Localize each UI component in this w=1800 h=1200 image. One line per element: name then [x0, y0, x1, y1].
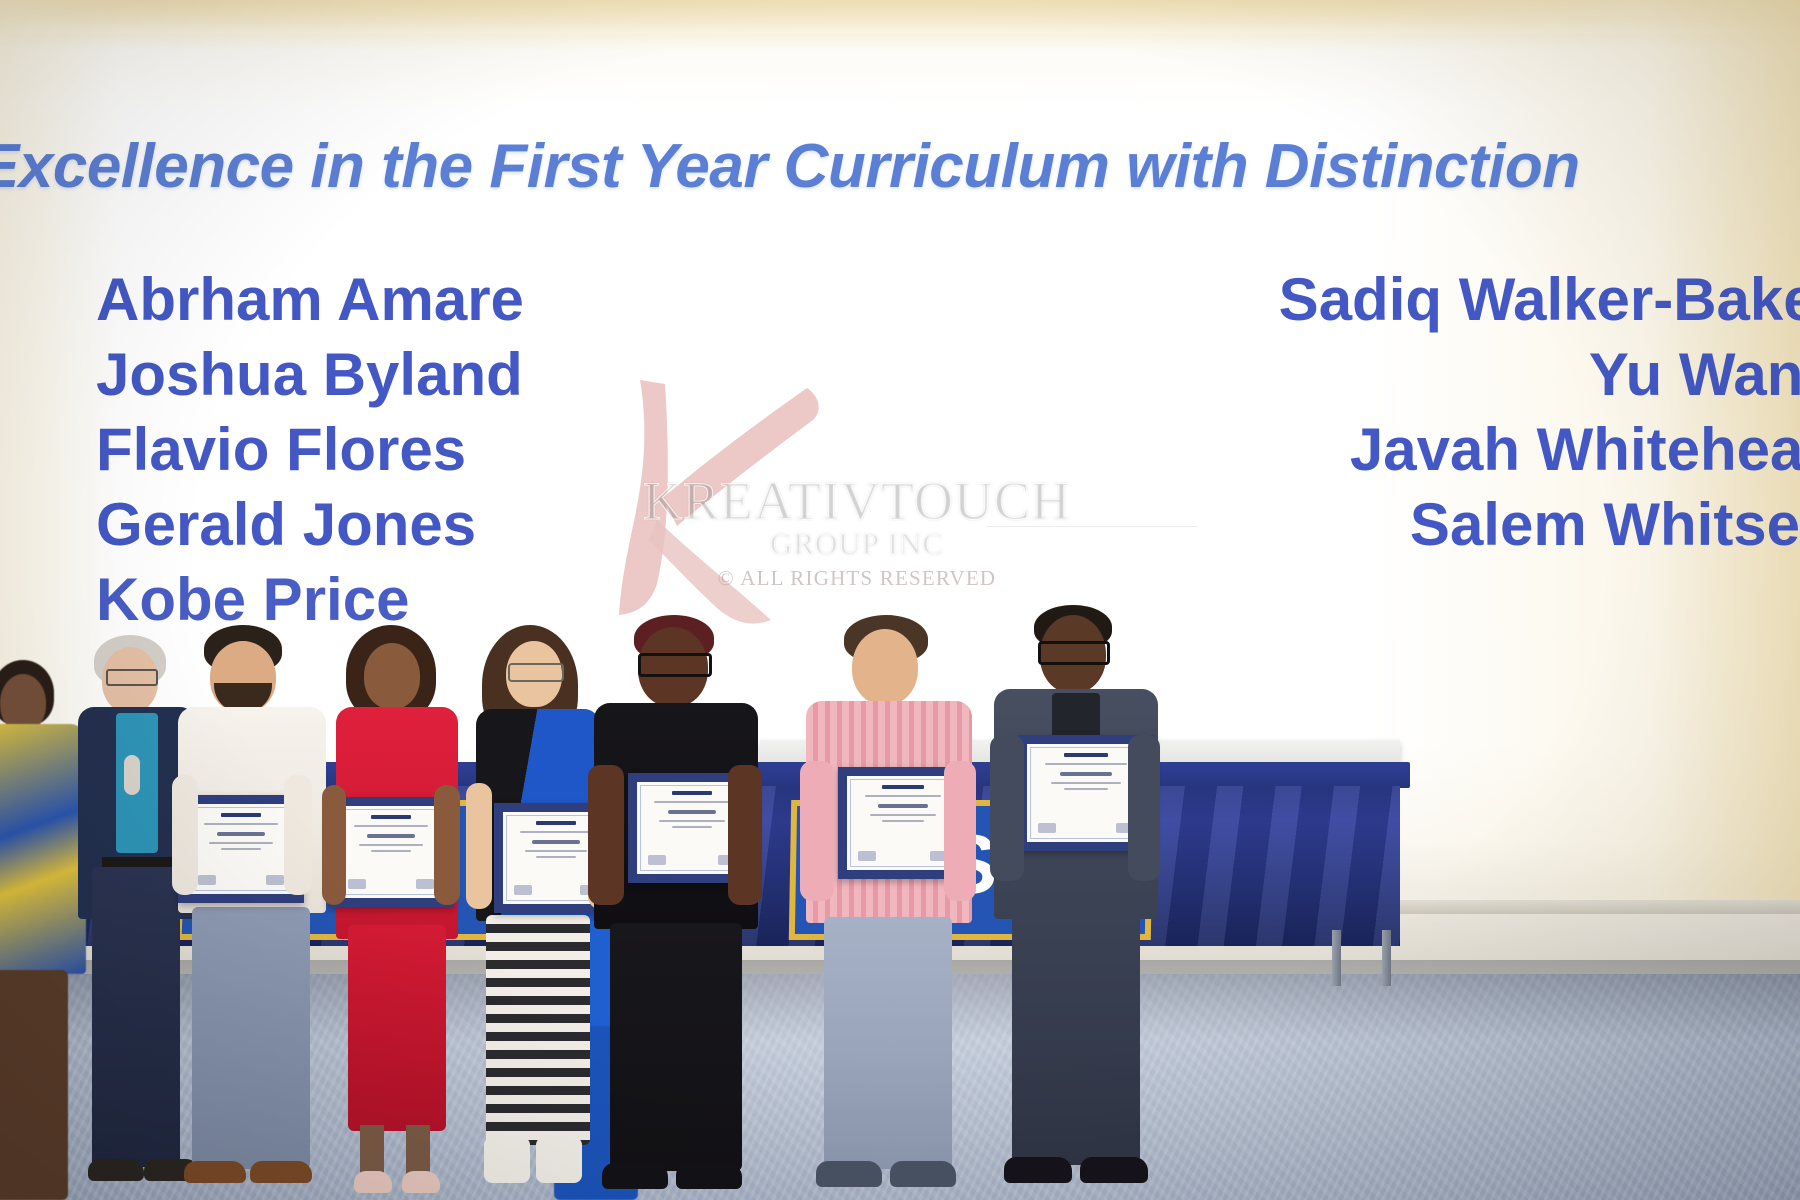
person-awardee-5 [800, 615, 978, 1200]
certificate-line [209, 842, 273, 844]
certificate-line [865, 795, 942, 797]
certificate-line [359, 844, 423, 846]
dress-shoe [1080, 1157, 1148, 1183]
certificate-seal [416, 879, 434, 889]
sneaker [676, 1163, 742, 1189]
certificate-recipient-script [668, 810, 717, 814]
certificate-line [882, 820, 924, 822]
certificate-logo [1064, 753, 1108, 757]
awardee-name: Abrham Amare [96, 262, 524, 337]
slide-left-name-column: Abrham Amare Joshua Byland Flavio Flores… [96, 262, 524, 637]
person-awardee-6 [990, 605, 1162, 1200]
pendant [124, 755, 140, 795]
heel [354, 1171, 392, 1193]
awardee-name: Sadiq Walker-Baker [1279, 262, 1800, 337]
arm [1128, 735, 1160, 881]
certificate-line [870, 814, 937, 816]
table-leg [1382, 930, 1391, 986]
certificate-line [654, 801, 729, 803]
certificate-logo [672, 791, 713, 795]
eyeglasses [638, 653, 712, 677]
head [852, 629, 918, 705]
certificate-seal [858, 851, 876, 861]
awardee-name: Salem Whitsett [1279, 487, 1800, 562]
eyeglasses [106, 669, 158, 686]
certificate-seal [348, 879, 366, 889]
arm [434, 785, 460, 905]
awardee-name: Flavio Flores [96, 412, 524, 487]
certificate-logo [882, 785, 924, 789]
person-awardee-4 [586, 615, 766, 1200]
awardee-name: Gerald Jones [96, 487, 524, 562]
certificate-line [659, 820, 724, 822]
certificate-seal [1038, 823, 1056, 833]
dress-shoe [1004, 1157, 1072, 1183]
slide-title: Excellence in the First Year Curriculum … [0, 131, 1800, 202]
certificate-line [1064, 788, 1108, 790]
certificate-line [1045, 763, 1126, 765]
shoe [184, 1161, 246, 1183]
arm [172, 775, 198, 895]
trousers [92, 867, 180, 1167]
certificate-line [520, 831, 593, 833]
arm [466, 783, 492, 909]
leg [406, 1125, 430, 1177]
slide-right-name-column: Sadiq Walker-Baker Yu Wang Javah Whitehe… [1279, 262, 1800, 562]
certificate-recipient-script [217, 832, 265, 836]
legs [0, 970, 68, 1200]
certificate-recipient-script [367, 834, 415, 838]
leg [360, 1125, 384, 1177]
striped-skirt [486, 915, 590, 1145]
arm [728, 765, 762, 905]
gray-trousers [192, 907, 310, 1169]
white-boot [536, 1137, 582, 1183]
shoe [250, 1161, 312, 1183]
photograph-canvas: Excellence in the First Year Curriculum … [0, 0, 1800, 1200]
sneaker [816, 1161, 882, 1187]
certificate-line [536, 856, 575, 858]
certificate-line [221, 848, 261, 850]
certificate-line [672, 826, 713, 828]
black-trousers [610, 923, 742, 1171]
certificate-line [525, 850, 588, 852]
person-awardee-2 [322, 625, 472, 1200]
certificate-face [850, 779, 956, 867]
sneaker [890, 1161, 956, 1187]
awardee-name: Yu Wang [1279, 337, 1800, 412]
certificate-logo [371, 815, 411, 819]
certificate-line [204, 823, 278, 825]
person-awardee-1 [172, 625, 332, 1200]
sneaker [602, 1163, 668, 1189]
arm [944, 761, 976, 901]
white-boot [484, 1137, 530, 1183]
suit-trousers [1012, 913, 1140, 1165]
eyeglasses [508, 663, 564, 682]
certificate-recipient-script [532, 840, 579, 844]
certificate-recipient-script [878, 804, 928, 808]
certificate-recipient-script [1060, 772, 1113, 776]
certificate-line [354, 825, 428, 827]
awardee-name: Joshua Byland [96, 337, 524, 412]
certificate-face [190, 807, 292, 891]
arm [800, 761, 834, 901]
certificate-logo [221, 813, 261, 817]
certificate-face [1030, 747, 1142, 839]
head [364, 643, 420, 709]
red-dress-skirt [348, 925, 446, 1131]
certificate-line [1051, 782, 1121, 784]
arm [990, 735, 1024, 881]
certificate-line [371, 850, 411, 852]
arm [588, 765, 624, 905]
certificate-seal [198, 875, 216, 885]
certificate-logo [536, 821, 575, 825]
arm [284, 775, 312, 895]
light-gray-trousers [824, 917, 952, 1169]
awardee-name: Javah Whitehead [1279, 412, 1800, 487]
eyeglasses [1038, 641, 1110, 665]
table-leg [1332, 930, 1341, 986]
heel [402, 1171, 440, 1193]
arm [322, 785, 346, 905]
certificate-seal [266, 875, 284, 885]
shoe [88, 1159, 144, 1181]
certificate-seal [648, 855, 666, 865]
certificate-face [340, 809, 442, 895]
certificate-seal [514, 885, 532, 895]
